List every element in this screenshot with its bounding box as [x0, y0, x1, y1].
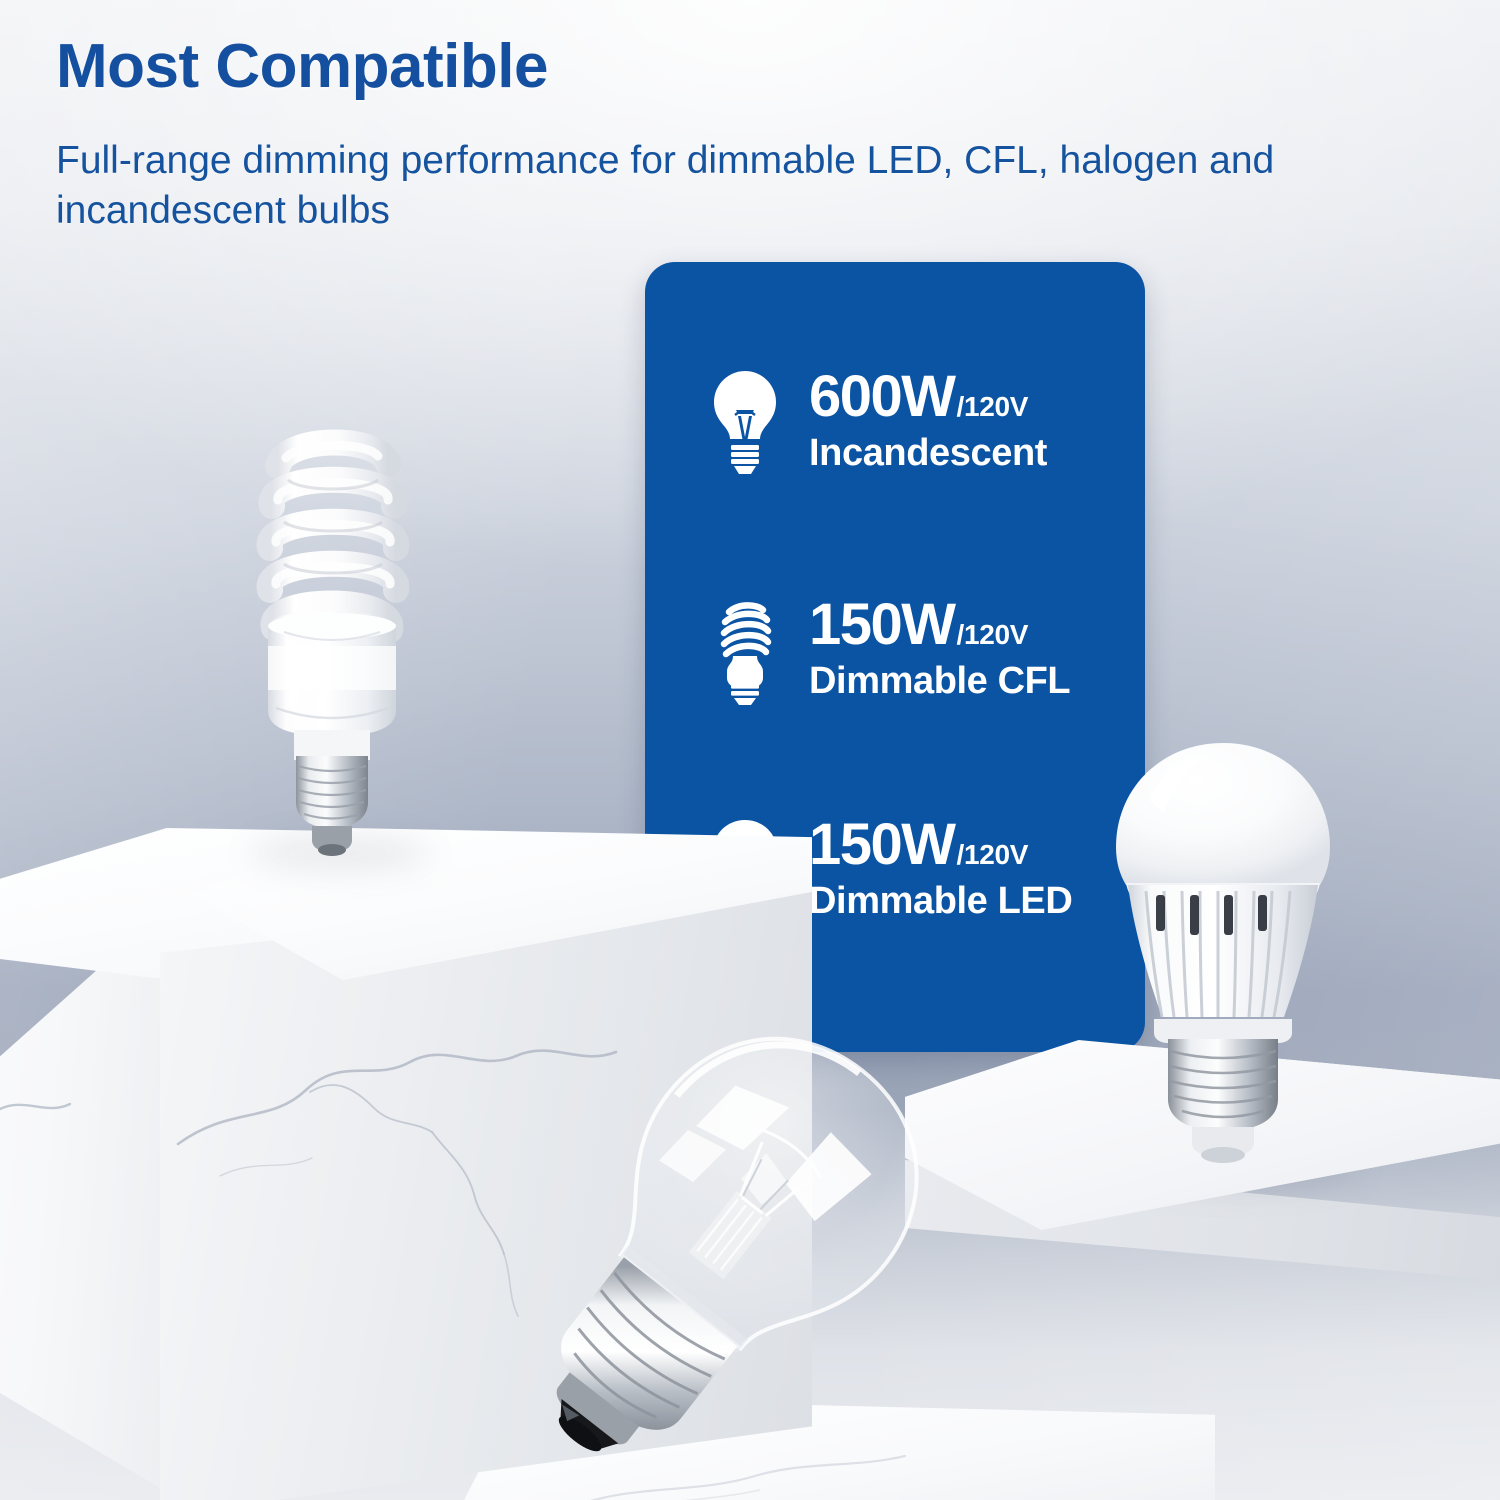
card-text-incandescent: 600W /120V Incandescent	[809, 368, 1047, 476]
wattage-value-cfl: 150W	[809, 596, 955, 654]
bulb-type-incandescent: Incandescent	[809, 432, 1047, 476]
card-text-led: 150W /120V Dimmable LED	[809, 816, 1072, 924]
led-bulb-photo	[1098, 735, 1348, 1175]
product-feature-image: 600W /120V Incandescent	[0, 0, 1500, 1500]
card-row-cfl: 150W /120V Dimmable CFL	[645, 562, 1145, 738]
bulb-type-cfl: Dimmable CFL	[809, 660, 1070, 704]
page-title: Most Compatible	[56, 34, 548, 99]
cfl-spiral-bulb-icon	[703, 594, 787, 706]
card-row-led: 150W /120V Dimmable LED	[645, 782, 1145, 958]
voltage-value-cfl: /120V	[957, 621, 1029, 649]
cfl-spiral-bulb-photo	[232, 414, 432, 864]
voltage-value-incandescent: /120V	[957, 393, 1029, 421]
wattage-value-incandescent: 600W	[809, 368, 955, 426]
card-text-cfl: 150W /120V Dimmable CFL	[809, 596, 1070, 704]
incandescent-bulb-icon	[703, 366, 787, 478]
led-bulb-icon	[703, 814, 787, 926]
clear-incandescent-bulb-photo	[495, 1005, 955, 1485]
compatibility-card: 600W /120V Incandescent	[645, 262, 1145, 1052]
card-row-incandescent: 600W /120V Incandescent	[645, 334, 1145, 510]
bulb-type-led: Dimmable LED	[809, 880, 1072, 924]
page-subtitle: Full-range dimming performance for dimma…	[56, 136, 1466, 236]
voltage-value-led: /120V	[957, 841, 1029, 869]
wattage-value-led: 150W	[809, 816, 955, 874]
